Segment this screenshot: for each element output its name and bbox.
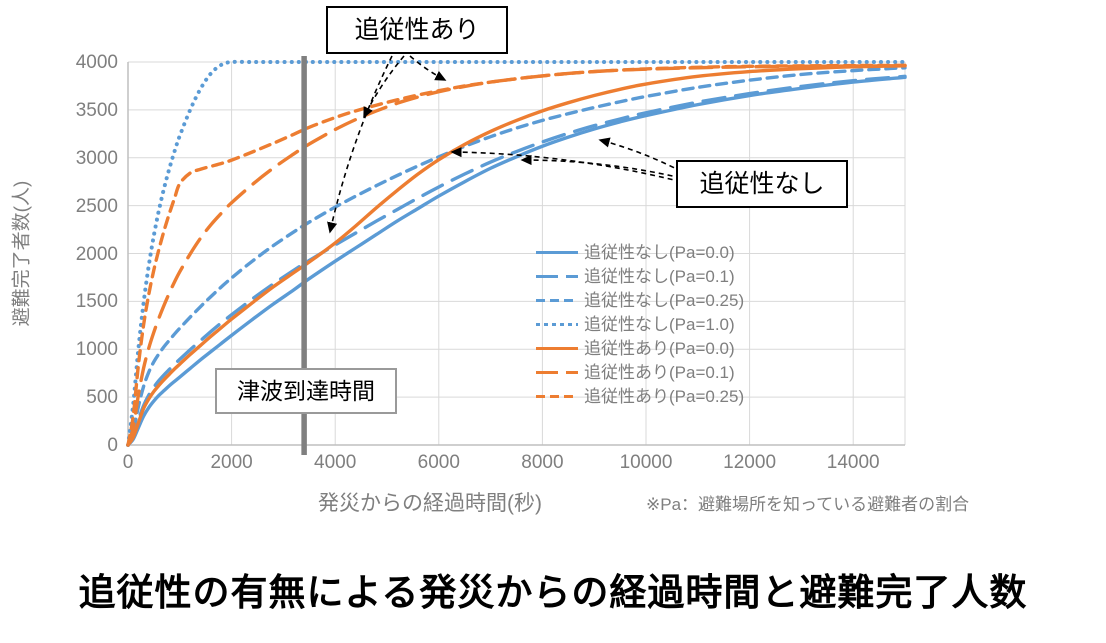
legend-swatch-icon: [536, 270, 578, 282]
figure-title: 追従性の有無による発災からの経過時間と避難完了人数: [0, 562, 1106, 616]
legend-swatch-icon: [536, 390, 578, 402]
x-axis-tick-label: 12000: [705, 453, 795, 472]
x-axis-tick-label: 0: [83, 453, 173, 472]
callout-tsuijusei-nashi-label: 追従性なし: [699, 172, 824, 197]
legend-item[interactable]: 追従性なし(Pa=1.0): [536, 312, 846, 336]
x-axis-tick-label: 4000: [290, 453, 380, 472]
figure-container: 40003500300025002000150010005000 0200040…: [0, 0, 1106, 643]
legend-label: 追従性あり(Pa=0.25): [584, 388, 744, 405]
legend-swatch-icon: [536, 366, 578, 378]
legend-item[interactable]: 追従性なし(Pa=0.0): [536, 240, 846, 264]
callout-tsuijusei-ari-label: 追従性あり: [354, 18, 479, 43]
legend-label: 追従性なし(Pa=0.1): [584, 268, 735, 285]
callout-tsuijusei-nashi: 追従性なし: [676, 160, 848, 208]
y-axis-title: 避難完了者数(人): [7, 144, 34, 364]
y-axis-tick-label: 4000: [56, 53, 118, 72]
legend-swatch-icon: [536, 342, 578, 354]
x-axis-title: 発災からの経過時間(秒): [318, 487, 542, 517]
legend-label: 追従性なし(Pa=0.0): [584, 244, 735, 261]
footnote-pa-definition: ※Pa：避難場所を知っている避難者の割合: [646, 490, 969, 515]
x-axis-tick-label: 14000: [808, 453, 898, 472]
legend-label: 追従性なし(Pa=0.25): [584, 292, 744, 309]
callout-tsunami-arrival: 津波到達時間: [215, 368, 397, 414]
y-axis-tick-label: 3000: [56, 149, 118, 168]
y-axis-tick-label: 1000: [56, 340, 118, 359]
legend-item[interactable]: 追従性なし(Pa=0.1): [536, 264, 846, 288]
x-axis-tick-label: 6000: [394, 453, 484, 472]
chart-area: 40003500300025002000150010005000 0200040…: [0, 0, 1106, 540]
y-axis-tick-label: 3500: [56, 101, 118, 120]
legend-label: 追従性あり(Pa=0.0): [584, 340, 735, 357]
legend-item[interactable]: 追従性なし(Pa=0.25): [536, 288, 846, 312]
x-axis-tick-label: 10000: [601, 453, 691, 472]
y-axis-tick-label: 500: [56, 388, 118, 407]
y-axis-tick-label: 2000: [56, 245, 118, 264]
y-axis-tick-label: 1500: [56, 292, 118, 311]
chart-legend: 追従性なし(Pa=0.0)追従性なし(Pa=0.1)追従性なし(Pa=0.25)…: [536, 240, 846, 408]
y-axis-tick-label: 2500: [56, 197, 118, 216]
x-axis-ticks: 02000400060008000100001200014000: [0, 453, 1106, 481]
legend-item[interactable]: 追従性あり(Pa=0.1): [536, 360, 846, 384]
legend-item[interactable]: 追従性あり(Pa=0.0): [536, 336, 846, 360]
x-axis-tick-label: 8000: [497, 453, 587, 472]
legend-item[interactable]: 追従性あり(Pa=0.25): [536, 384, 846, 408]
callout-tsunami-arrival-label: 津波到達時間: [237, 380, 375, 403]
legend-label: 追従性あり(Pa=0.1): [584, 364, 735, 381]
legend-label: 追従性なし(Pa=1.0): [584, 316, 735, 333]
callout-tsuijusei-ari: 追従性あり: [326, 6, 508, 54]
legend-swatch-icon: [536, 318, 578, 330]
legend-swatch-icon: [536, 246, 578, 258]
x-axis-tick-label: 2000: [187, 453, 277, 472]
legend-swatch-icon: [536, 294, 578, 306]
